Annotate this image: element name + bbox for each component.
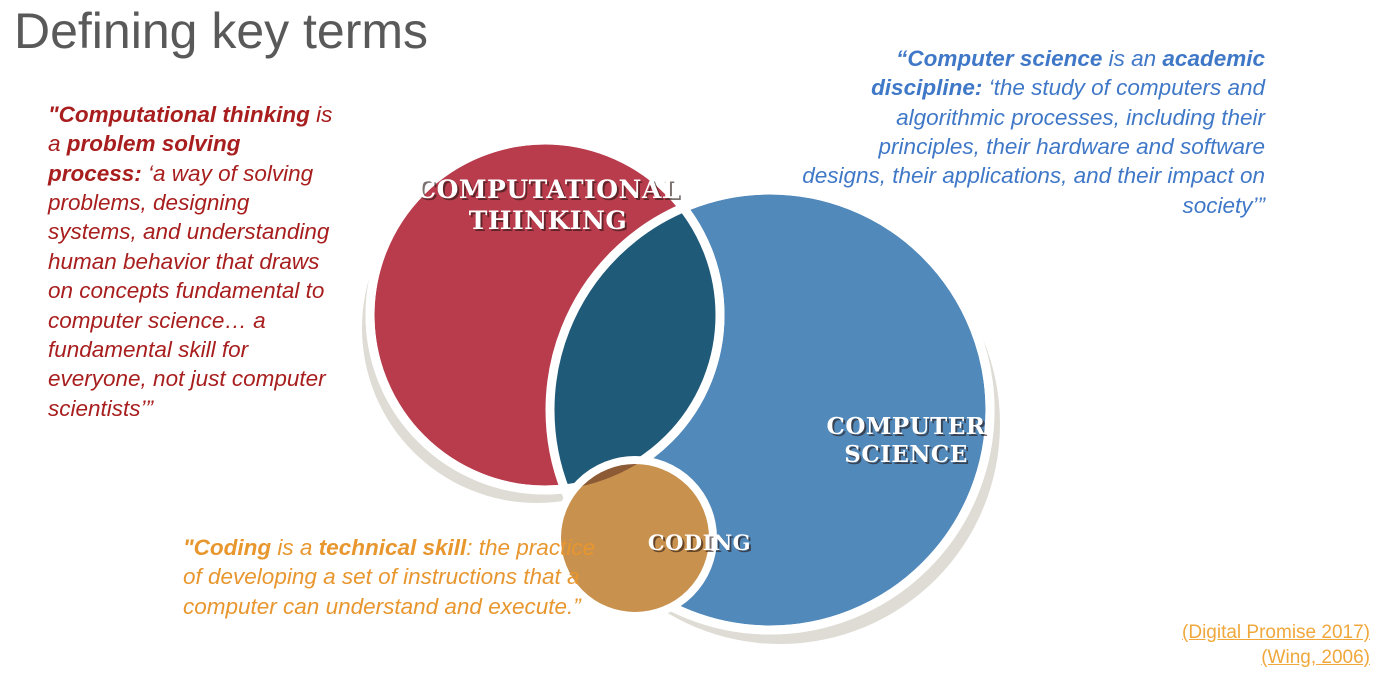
quote-coding: "Coding is a technical skill: the practi… [183, 533, 603, 621]
citations-block: (Digital Promise 2017) (Wing, 2006) [1182, 620, 1370, 670]
citation-link-wing[interactable]: (Wing, 2006) [1182, 645, 1370, 670]
slide-canvas: Defining key terms [0, 0, 1384, 676]
quote-category-computer-science-2: discipline: [871, 75, 982, 100]
quote-connector: is a [271, 535, 319, 560]
quote-connector: is an [1102, 46, 1162, 71]
quote-category-computer-science-1: academic [1162, 46, 1265, 71]
page-title: Defining key terms [14, 2, 428, 60]
quote-term-computational-thinking: "Computational thinking [48, 102, 310, 127]
quote-category-coding: technical skill [319, 535, 467, 560]
quote-computer-science: “Computer science is an academicdiscipli… [795, 44, 1265, 220]
quote-computational-thinking: "Computational thinking is a problem sol… [48, 100, 340, 423]
quote-term-coding: "Coding [183, 535, 271, 560]
quote-term-computer-science: “Computer science [896, 46, 1102, 71]
citation-link-digital-promise[interactable]: (Digital Promise 2017) [1182, 620, 1370, 645]
quote-body-computational-thinking: ‘a way of solving problems, designing sy… [48, 161, 329, 421]
